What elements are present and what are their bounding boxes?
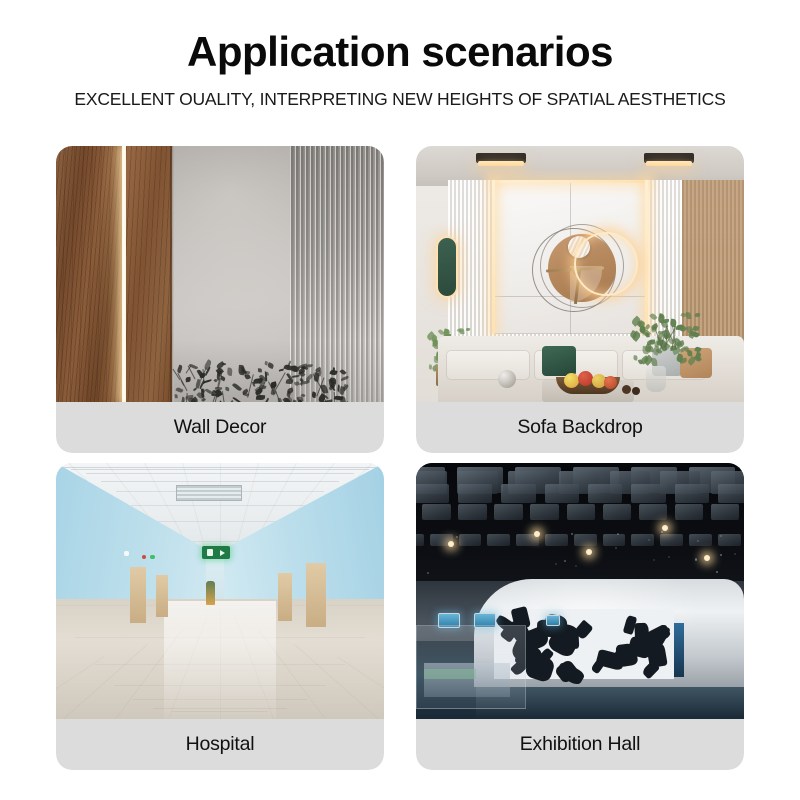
sofa-backdrop-scene — [416, 146, 744, 402]
scenario-card-sofa-backdrop[interactable]: Sofa Backdrop — [416, 146, 744, 453]
page-subtitle: EXCELLENT OUALITY, INTERPRETING NEW HEIG… — [0, 89, 800, 110]
scenario-card-wall-decor[interactable]: Wall Decor — [56, 146, 384, 453]
scenario-card-exhibition-hall[interactable]: Exhibition Hall — [416, 463, 744, 770]
glass-partition — [416, 625, 526, 709]
exhibition-hall-image — [416, 463, 744, 719]
foliage-cluster — [174, 348, 344, 402]
wood-panel-left — [56, 146, 122, 402]
person-silhouette — [206, 581, 215, 605]
plant-right — [630, 312, 700, 374]
card-label-wall-decor: Wall Decor — [56, 402, 384, 453]
glow-ring-icon — [574, 232, 638, 296]
scenario-card-grid: Wall Decor — [56, 146, 744, 770]
sofa-backdrop-image — [416, 146, 744, 402]
hospital-image — [56, 463, 384, 719]
air-vent — [176, 485, 242, 501]
wall-decor-scene — [56, 146, 384, 402]
display-screen-3[interactable] — [546, 615, 560, 626]
exhibition-hall-scene — [416, 463, 744, 719]
cove-light-left — [492, 180, 495, 334]
page-header: Application scenarios EXCELLENT OUALITY,… — [0, 0, 800, 110]
card-label-text: Wall Decor — [174, 416, 267, 439]
card-label-exhibition-hall: Exhibition Hall — [416, 719, 744, 770]
card-label-text: Hospital — [186, 733, 255, 756]
cove-light-right — [645, 180, 648, 334]
card-label-text: Exhibition Hall — [520, 733, 641, 756]
glass-vase — [646, 366, 666, 392]
page-title: Application scenarios — [0, 30, 800, 74]
card-label-sofa-backdrop: Sofa Backdrop — [416, 402, 744, 453]
card-label-hospital: Hospital — [56, 719, 384, 770]
circular-wall-art — [530, 222, 640, 332]
wall-decor-image — [56, 146, 384, 402]
decor-sphere — [498, 370, 516, 388]
scenario-card-hospital[interactable]: Hospital — [56, 463, 384, 770]
coffered-ceiling — [416, 463, 744, 591]
cove-light-top — [492, 180, 648, 183]
application-scenarios-page: Application scenarios EXCELLENT OUALITY,… — [0, 0, 800, 800]
pill-wall-light — [438, 238, 456, 296]
wood-panel-right — [126, 146, 172, 402]
cushion-green — [542, 346, 576, 376]
hospital-scene — [56, 463, 384, 719]
card-label-text: Sofa Backdrop — [517, 416, 642, 439]
exit-sign-icon — [202, 546, 230, 559]
